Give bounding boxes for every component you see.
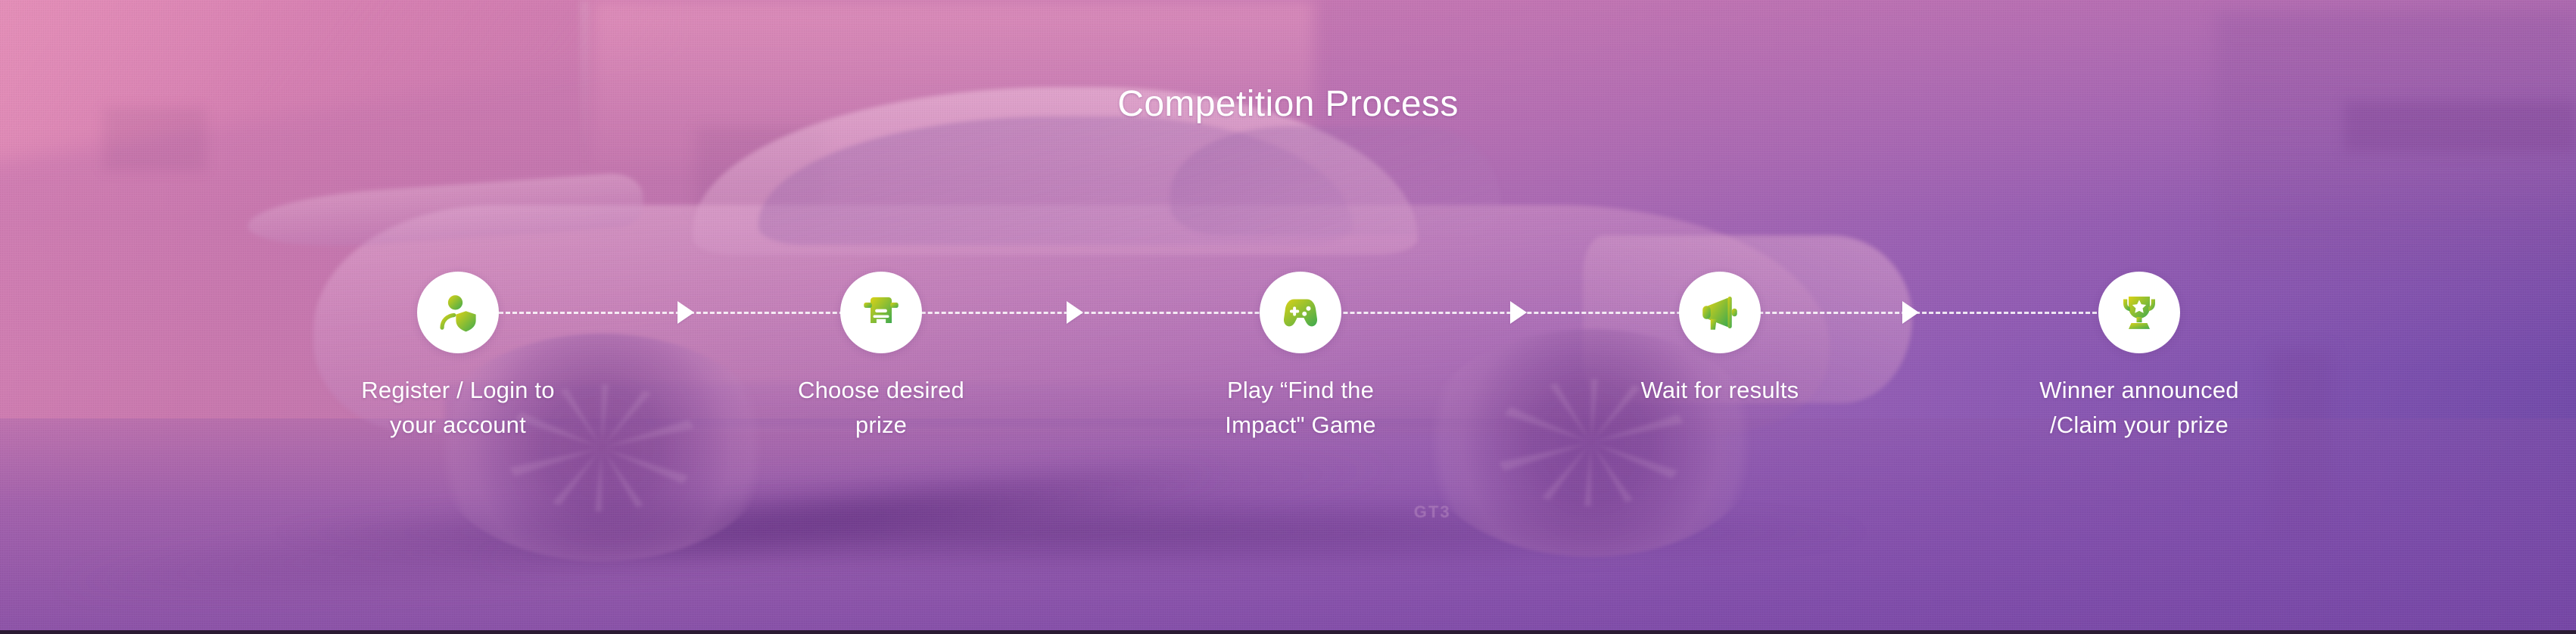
- process-arrow-icon-4: [1902, 301, 1919, 324]
- process-steps: Register / Login to your account: [294, 254, 2292, 481]
- process-step-3[interactable]: Play “Find the Impact" Game: [1164, 254, 1437, 443]
- trophy-icon: [2118, 291, 2160, 334]
- process-arrow-icon-1: [677, 301, 694, 324]
- process-step-2[interactable]: Choose desired prize: [745, 254, 1017, 443]
- process-step-1-circle[interactable]: [417, 272, 499, 353]
- megaphone-icon: [1699, 291, 1741, 334]
- bottom-edge-strip: [0, 630, 2576, 634]
- process-arrow-icon-2: [1067, 301, 1083, 324]
- process-step-2-label: Choose desired prize: [745, 373, 1017, 443]
- process-step-5[interactable]: Winner announced /Claim your prize: [2003, 254, 2275, 443]
- user-shield-icon: [437, 291, 479, 334]
- process-arrow-icon-3: [1510, 301, 1527, 324]
- process-step-5-circle[interactable]: [2098, 272, 2180, 353]
- process-step-5-label: Winner announced /Claim your prize: [2003, 373, 2275, 443]
- process-step-4-circle[interactable]: [1679, 272, 1761, 353]
- process-step-2-circle[interactable]: [840, 272, 922, 353]
- process-step-3-circle[interactable]: [1260, 272, 1341, 353]
- competition-process-banner: GT3 Competition Process: [0, 0, 2576, 634]
- gamepad-icon: [1279, 291, 1322, 334]
- car-icon: [860, 291, 902, 334]
- process-step-1-label: Register / Login to your account: [322, 373, 594, 443]
- process-step-4[interactable]: Wait for results: [1584, 254, 1856, 408]
- process-step-1[interactable]: Register / Login to your account: [322, 254, 594, 443]
- process-step-3-label: Play “Find the Impact" Game: [1164, 373, 1437, 443]
- process-content: Competition Process: [0, 0, 2576, 634]
- process-step-4-label: Wait for results: [1584, 373, 1856, 408]
- page-title: Competition Process: [0, 83, 2576, 125]
